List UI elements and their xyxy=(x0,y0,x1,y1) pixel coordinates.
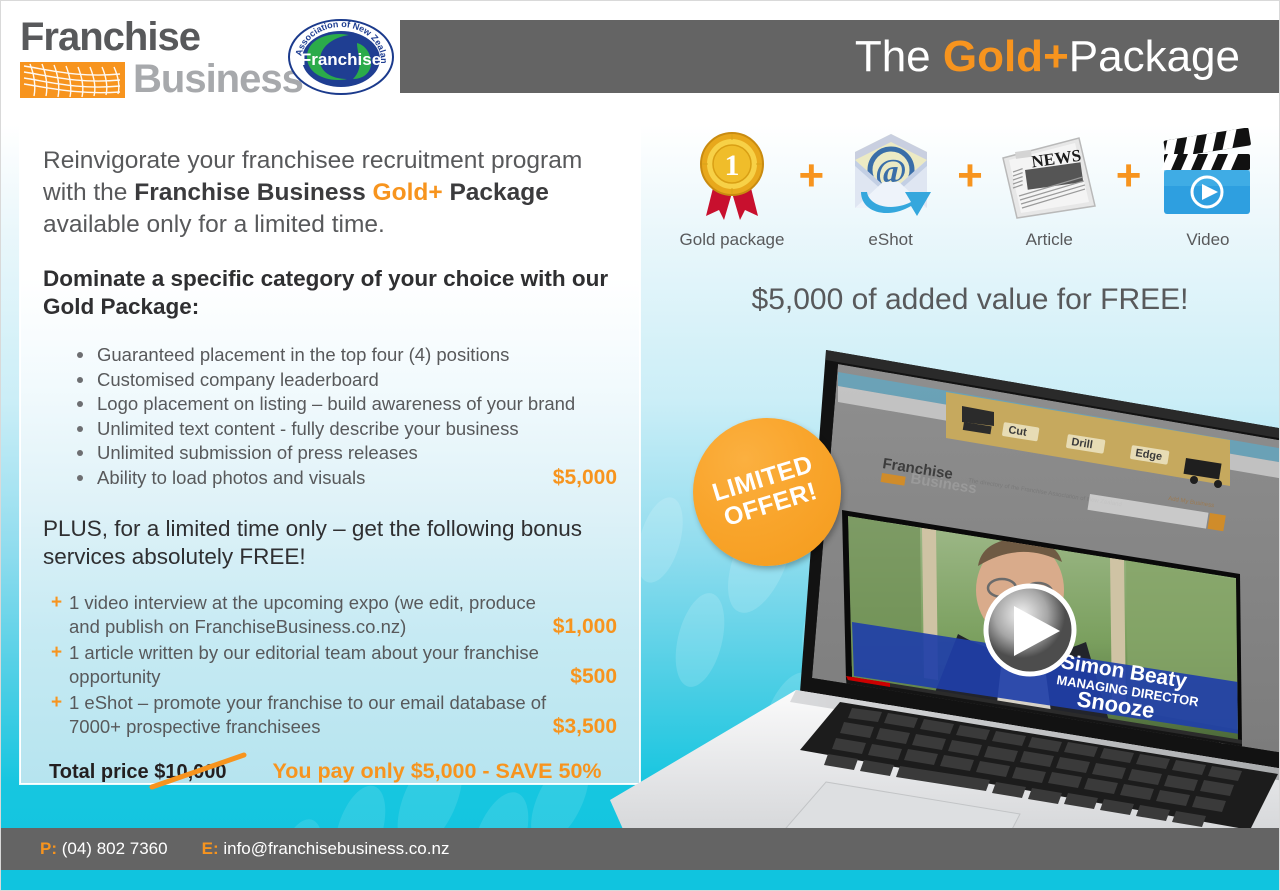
video-clapperboard-icon xyxy=(1152,128,1264,224)
email-at-envelope-icon: @ xyxy=(835,128,947,224)
bonus-line-2: and publish on FranchiseBusiness.co.nz) xyxy=(69,615,406,639)
email-address[interactable]: info@franchisebusiness.co.nz xyxy=(223,839,449,858)
bonus-line-1: 1 video interview at the upcoming expo (… xyxy=(69,591,617,615)
you-pay-text: You pay only $5,000 - SAVE 50% xyxy=(273,759,602,784)
bonus-line-2: 7000+ prospective franchisees xyxy=(69,715,320,739)
component-gold-package: 1 Gold package xyxy=(676,128,788,250)
feature-text: Guaranteed placement in the top four (4)… xyxy=(97,344,509,365)
email-label: E: xyxy=(202,839,219,858)
brand-line-business: Business xyxy=(133,60,303,98)
total-price-label: Total price $10,000 xyxy=(49,761,227,784)
browser-search-button xyxy=(1207,513,1225,531)
header-bar: Franchise xyxy=(0,0,1280,104)
bonus-heading: PLUS, for a limited time only – get the … xyxy=(43,515,617,571)
feature-text: Logo placement on listing – build awaren… xyxy=(97,393,575,414)
feature-text: Unlimited submission of press releases xyxy=(97,442,418,463)
title-accent: Gold+ xyxy=(943,32,1069,81)
component-eshot: @ eShot xyxy=(835,128,947,250)
phone-label: P: xyxy=(40,839,57,858)
association-center-text: Franchise xyxy=(301,50,381,69)
plus-separator-icon: + xyxy=(957,128,983,224)
bonus-line-2: opportunity xyxy=(69,665,161,689)
intro-bold-package: Package xyxy=(443,179,549,206)
component-label: Article xyxy=(993,230,1105,250)
bonus-list: + 1 video interview at the upcoming expo… xyxy=(51,591,617,739)
list-item: Logo placement on listing – build awaren… xyxy=(77,392,617,416)
contact-footer: P: (04) 802 7360 E: info@franchisebusine… xyxy=(0,828,1280,870)
phone-number: (04) 802 7360 xyxy=(62,839,168,858)
footer-email: E: info@franchisebusiness.co.nz xyxy=(202,839,450,859)
brand-line-franchise: Franchise xyxy=(20,16,290,58)
component-label: Video xyxy=(1152,230,1264,250)
list-item: Unlimited text content - fully describe … xyxy=(77,417,617,441)
newspaper-icon: NEWS xyxy=(993,128,1105,224)
added-value-headline: $5,000 of added value for FREE! xyxy=(660,283,1280,317)
package-components-row: 1 Gold package + @ xyxy=(660,128,1280,268)
intro-bold-brand: Franchise Business xyxy=(134,179,372,206)
svg-text:1: 1 xyxy=(725,149,740,182)
plus-separator-icon: + xyxy=(1116,128,1142,224)
brand-orange-mark-icon xyxy=(20,62,125,98)
list-item: + 1 video interview at the upcoming expo… xyxy=(51,591,617,639)
component-label: Gold package xyxy=(676,230,788,250)
plus-bullet-icon: + xyxy=(51,641,62,665)
list-item: Unlimited submission of press releases xyxy=(77,441,617,465)
struck-price: $10,000 xyxy=(154,761,226,784)
list-item: + 1 article written by our editorial tea… xyxy=(51,641,617,689)
flyer-page: Franchise xyxy=(0,0,1280,891)
component-label: eShot xyxy=(835,230,947,250)
intro-paragraph: Reinvigorate your franchisee recruitment… xyxy=(43,145,617,241)
title-prefix: The xyxy=(855,32,943,81)
bonus-line-1: 1 article written by our editorial team … xyxy=(69,641,617,665)
feature-text: Ability to load photos and visuals xyxy=(97,466,365,490)
component-article: NEWS Article xyxy=(993,128,1105,250)
intro-accent-gold: Gold+ xyxy=(373,179,443,206)
component-video: Video xyxy=(1152,128,1264,250)
strikethrough-line-icon xyxy=(148,749,256,791)
gold-medal-icon: 1 xyxy=(676,128,788,224)
badge-text: LIMITED OFFER! xyxy=(710,451,825,533)
plus-bullet-icon: + xyxy=(51,591,62,615)
franchise-association-nz-logo: Association of New Zealand Inc Franchise xyxy=(287,17,395,97)
list-item: Ability to load photos and visuals $5,00… xyxy=(77,466,617,490)
franchise-business-logo: Franchise xyxy=(20,16,290,98)
plus-bullet-icon: + xyxy=(51,691,62,715)
dominate-subheading: Dominate a specific category of your cho… xyxy=(43,265,617,321)
feature-text: Unlimited text content - fully describe … xyxy=(97,418,519,439)
title-suffix: Package xyxy=(1069,32,1240,81)
list-item: + 1 eShot – promote your franchise to ou… xyxy=(51,691,617,739)
video-play-button[interactable] xyxy=(986,586,1074,674)
features-list: Guaranteed placement in the top four (4)… xyxy=(77,343,617,489)
plus-separator-icon: + xyxy=(798,128,824,224)
intro-part2: available only for a limited time. xyxy=(43,211,385,238)
page-title: The Gold+Package xyxy=(855,32,1240,82)
footer-phone: P: (04) 802 7360 xyxy=(40,839,168,859)
feature-text: Customised company leaderboard xyxy=(97,369,379,390)
list-item: Customised company leaderboard xyxy=(77,368,617,392)
package-title-bar: The Gold+Package xyxy=(400,20,1280,93)
offer-details-panel: Reinvigorate your franchisee recruitment… xyxy=(20,118,640,784)
laptop-photo: Cut Drill Edge Franchise Business The di… xyxy=(590,330,1280,891)
total-price-text: Total price xyxy=(49,761,154,783)
footer-cyan-strip xyxy=(0,870,1280,891)
bonus-line-1: 1 eShot – promote your franchise to our … xyxy=(69,691,617,715)
list-item: Guaranteed placement in the top four (4)… xyxy=(77,343,617,367)
total-price-row: Total price $10,000 You pay only $5,000 … xyxy=(43,759,617,784)
limited-offer-badge: LIMITED OFFER! xyxy=(693,418,841,566)
